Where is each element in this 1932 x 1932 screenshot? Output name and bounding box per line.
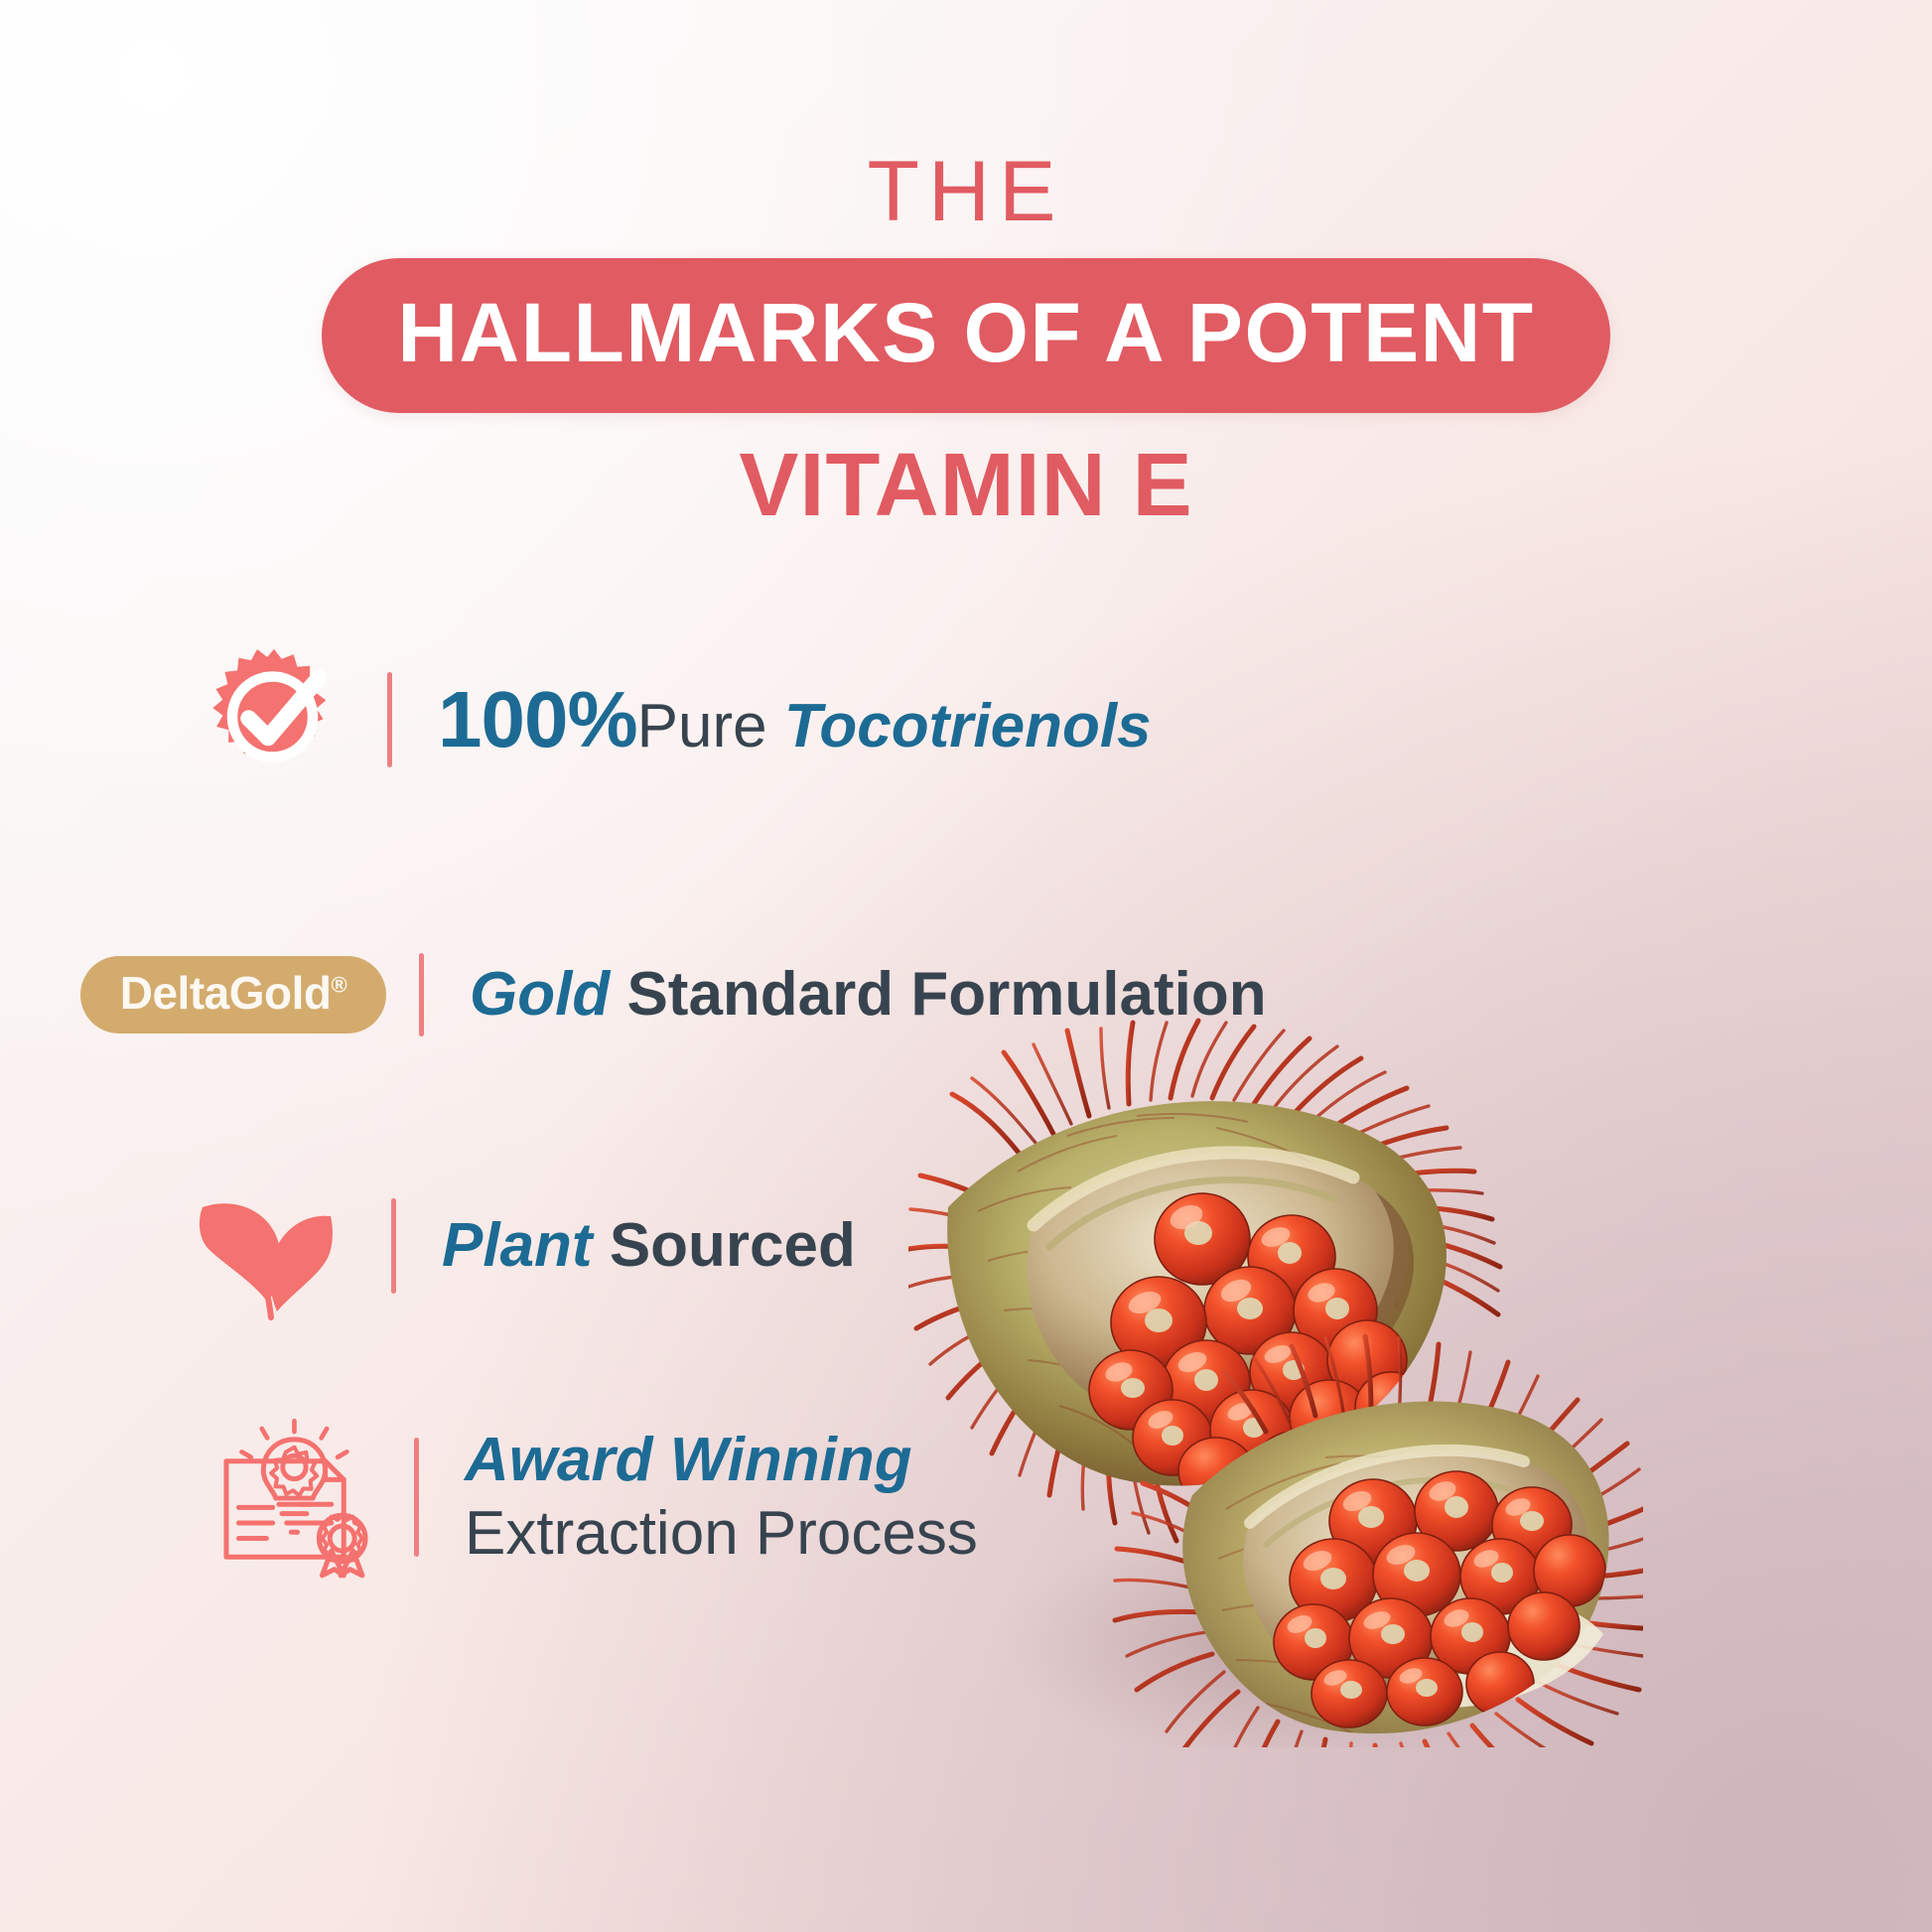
- feature-emphasis-text: Tocotrienols: [784, 692, 1152, 760]
- registered-trademark-icon: ®: [331, 973, 346, 998]
- row-divider: [391, 1198, 396, 1294]
- award-certificate-icon: [199, 1410, 392, 1584]
- feature-label-gold-standard: Gold Standard Formulation: [470, 964, 1267, 1026]
- check-badge-icon: [195, 645, 353, 794]
- feature-emphasis-text: Gold: [470, 960, 610, 1029]
- deltagold-text: DeltaGold: [120, 967, 332, 1019]
- deltagold-pill: DeltaGold®: [80, 956, 387, 1034]
- feature-number: 100%: [438, 675, 637, 763]
- poster-canvas: THE HALLMARKS OF A POTENT VITAMIN E: [0, 0, 1932, 1932]
- feature-label-pure-tocotrienols: 100%Pure Tocotrienols: [438, 680, 1152, 759]
- feature-plain-text: Standard Formulation: [626, 960, 1266, 1029]
- feature-plain-text: Sourced: [610, 1211, 856, 1280]
- feature-row-award-winning: Award Winning Extraction Process: [199, 1410, 978, 1584]
- feature-emphasis-text: Plant: [442, 1211, 593, 1280]
- feature-plain-text: Pure: [637, 692, 767, 760]
- feature-row-gold-standard: DeltaGold® Gold Standard Formulation: [69, 945, 1267, 1044]
- feature-list: 100%Pure Tocotrienols DeltaGold® Gold St…: [0, 0, 1932, 1932]
- feature-plain-text: Extraction Process: [465, 1497, 978, 1570]
- feature-label-award-winning: Award Winning Extraction Process: [465, 1424, 978, 1569]
- feature-emphasis-text: Award Winning: [465, 1424, 978, 1496]
- leaf-icon: [179, 1172, 357, 1320]
- deltagold-badge: DeltaGold®: [69, 945, 397, 1044]
- feature-row-plant-sourced: Plant Sourced: [179, 1172, 856, 1320]
- row-divider: [387, 672, 392, 767]
- feature-label-plant-sourced: Plant Sourced: [442, 1215, 856, 1277]
- row-divider: [414, 1438, 419, 1557]
- row-divider: [419, 953, 424, 1036]
- feature-row-pure-tocotrienols: 100%Pure Tocotrienols: [195, 645, 1152, 794]
